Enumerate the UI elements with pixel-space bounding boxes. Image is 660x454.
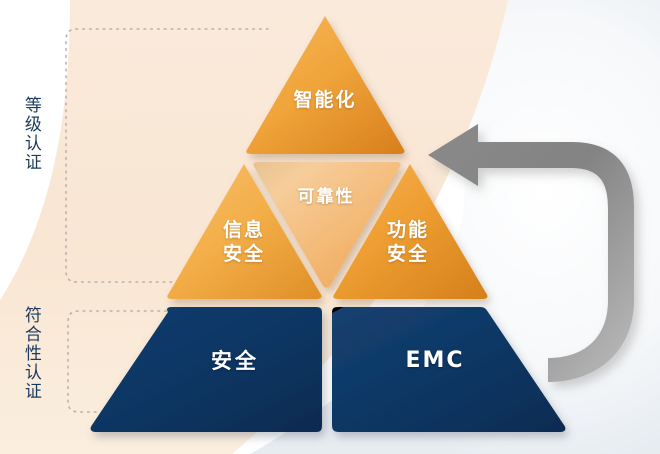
label-grade-certification: 等级认证 bbox=[22, 96, 40, 172]
diagram-canvas: 等级认证 符合性认证 智能化 可靠性 信息 安全 功能 安全 安全 EMC bbox=[0, 0, 660, 454]
tile-emc[interactable] bbox=[332, 307, 565, 432]
tile-intelligent[interactable] bbox=[246, 16, 404, 154]
pyramid-layer bbox=[0, 0, 660, 454]
tile-safety[interactable] bbox=[91, 307, 322, 432]
label-compliance-certification: 符合性认证 bbox=[22, 306, 40, 401]
